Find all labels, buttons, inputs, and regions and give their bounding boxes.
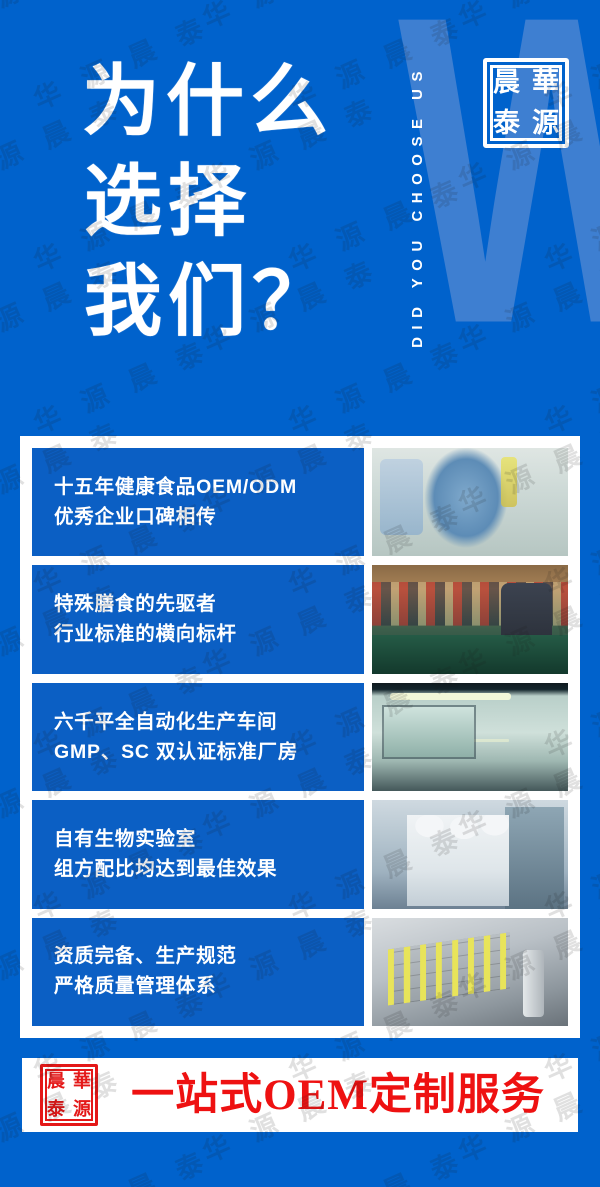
watermark-text: 华 源 晨 泰 (451, 0, 600, 36)
footer-seal-char-4: 泰 (47, 1100, 65, 1118)
feature-row[interactable]: 六千平全自动化生产车间 GMP、SC 双认证标准厂房 (32, 683, 568, 791)
headline-line-3: 我们？ (82, 252, 336, 352)
footer-seal-char-1: 華 (73, 1072, 91, 1090)
cleanroom-staff-photo (372, 800, 568, 908)
lab-technician-photo (372, 448, 568, 556)
feature-text-block: 自有生物实验室 组方配比均达到最佳效果 (32, 800, 364, 908)
seal-char-1: 華 (532, 69, 559, 96)
watermark-text: 华 源 晨 泰 (0, 0, 131, 36)
feature-row[interactable]: 自有生物实验室 组方配比均达到最佳效果 (32, 800, 568, 908)
poster-root: WHY 为什么 选择 我们？ DID YOU CHOOSE US 華 源 晨 泰… (0, 0, 600, 1187)
feature-line-1: 特殊膳食的先驱者 (54, 591, 364, 618)
production-workshop-photo (372, 683, 568, 791)
feature-text-block: 十五年健康食品OEM/ODM 优秀企业口碑相传 (32, 448, 364, 556)
feature-text-block: 六千平全自动化生产车间 GMP、SC 双认证标准厂房 (32, 683, 364, 791)
vertical-english-caption: DID YOU CHOOSE US (400, 14, 434, 398)
watermark-text: 华 源 晨 泰 (537, 166, 600, 279)
watermark-text: 华 源 晨 泰 (537, 328, 600, 441)
headline-line-1: 为什么 (82, 52, 336, 152)
feature-line-1: 自有生物实验室 (54, 826, 364, 853)
seal-char-2: 源 (532, 110, 559, 137)
footer-banner[interactable]: 華 源 晨 泰 一站式OEM定制服务 (22, 1058, 578, 1132)
feature-list: 十五年健康食品OEM/ODM 优秀企业口碑相传 特殊膳食的先驱者 行业标准的横向… (20, 436, 580, 1038)
brand-seal-icon: 華 源 晨 泰 (483, 58, 569, 148)
headline-line-2: 选择 (82, 152, 336, 252)
watermark-text: 华 源 晨 泰 (196, 0, 387, 36)
feature-line-1: 六千平全自动化生产车间 (54, 709, 364, 736)
feature-line-2: 行业标准的横向标杆 (54, 621, 364, 648)
footer-brand-seal-icon: 華 源 晨 泰 (40, 1064, 98, 1126)
feature-line-1: 十五年健康食品OEM/ODM (54, 474, 364, 501)
page-title: 为什么 选择 我们？ (82, 52, 336, 352)
feature-line-2: 组方配比均达到最佳效果 (54, 856, 364, 883)
seal-char-4: 泰 (493, 110, 520, 137)
conference-audience-photo (372, 565, 568, 673)
feature-row[interactable]: 十五年健康食品OEM/ODM 优秀企业口碑相传 (32, 448, 568, 556)
watermark-text: 华 源 晨 泰 (26, 1138, 217, 1187)
seal-char-3: 晨 (493, 69, 520, 96)
watermark-row: 华 源 晨 泰华 源 晨 泰华 源 晨 泰华 源 晨 泰 (0, 1175, 600, 1187)
feature-row[interactable]: 特殊膳食的先驱者 行业标准的横向标杆 (32, 565, 568, 673)
feature-text-block: 资质完备、生产规范 严格质量管理体系 (32, 918, 364, 1026)
watermark-row: 华 源 晨 泰华 源 晨 泰华 源 晨 泰华 源 晨 泰 (0, 365, 600, 404)
footer-seal-char-2: 源 (73, 1100, 91, 1118)
footer-title: 一站式OEM定制服务 (108, 1072, 568, 1119)
watermark-text: 华 源 晨 泰 (282, 1138, 473, 1187)
feature-line-2: 优秀企业口碑相传 (54, 504, 364, 531)
feature-line-1: 资质完备、生产规范 (54, 943, 364, 970)
feature-line-2: GMP、SC 双认证标准厂房 (54, 739, 364, 766)
packaging-machine-photo (372, 918, 568, 1026)
vertical-english-text: DID YOU CHOOSE US (409, 64, 426, 348)
watermark-text: 华 源 晨 泰 (537, 1138, 600, 1187)
footer-seal-char-3: 晨 (47, 1072, 65, 1090)
feature-line-2: 严格质量管理体系 (54, 973, 364, 1000)
watermark-text: 华 源 晨 泰 (451, 247, 600, 360)
feature-row[interactable]: 资质完备、生产规范 严格质量管理体系 (32, 918, 568, 1026)
feature-text-block: 特殊膳食的先驱者 行业标准的横向标杆 (32, 565, 364, 673)
